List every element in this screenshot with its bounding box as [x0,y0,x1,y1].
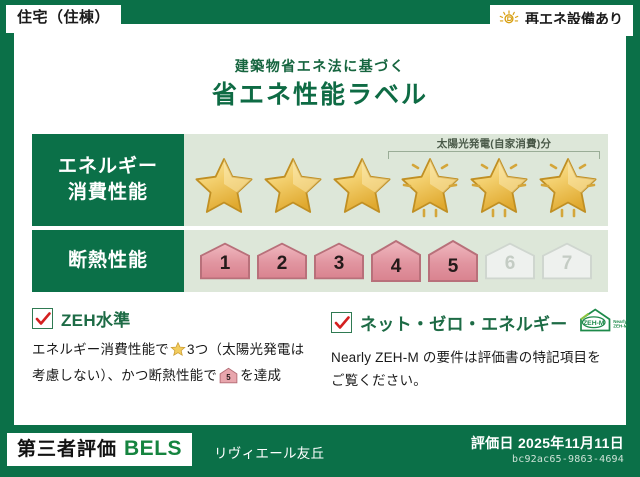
bels-en-label: BELS [124,437,182,460]
insulation-level-number: 6 [505,254,516,281]
insulation-level-1: 1 [198,241,252,281]
inline-star-icon [170,345,186,360]
footer-band: 第三者評価 BELS リヴィエール友丘 評価日 2025年11月11日 bc92… [0,425,640,477]
star-filled [330,155,394,219]
zeh-criteria-header: ZEH水準 [32,306,309,331]
check-icon [334,315,350,331]
zeh-m-logo-icon: ZEH-M Nearly ZEH-M [576,306,632,339]
net-zero-checkbox[interactable] [331,312,352,333]
insulation-performance-body: 1 2 [184,230,608,292]
evaluation-date: 評価日 2025年11月11日 [471,433,624,453]
svg-text:5: 5 [226,373,231,382]
evaluation-id: bc92ac65-9863-4694 [512,454,624,465]
solar-bracket-label: 太陽光発電(自家消費)分 [386,136,602,151]
star-filled [192,155,256,219]
insulation-level-7: 7 [540,241,594,281]
insulation-level-number: 7 [562,254,573,281]
insulation-level-4: 4 [369,238,423,284]
bels-jp-label: 第三者評価 [17,440,117,461]
insulation-performance-label: 断熱性能 [32,230,184,292]
net-zero-criteria-title: ネット・ゼロ・エネルギー [360,310,568,335]
insulation-level-5: 5 [426,238,480,284]
label-sheet: 建築物省エネ法に基づく 省エネ性能ラベル エネルギー 消費性能 太陽光発電(自家… [14,24,626,425]
title-block: 建築物省エネ法に基づく 省エネ性能ラベル [14,58,626,110]
bels-certification-tag: 第三者評価 BELS [7,433,192,466]
insulation-performance-row: 断熱性能 1 [32,230,608,292]
energy-label-line2: 消費性能 [68,180,148,206]
criteria-section: ZEH水準 エネルギー消費性能で3つ（太陽光発電は考慮しない）、かつ断熱性能で5… [32,306,608,410]
insulation-level-number: 3 [334,254,345,281]
insulation-level-scale: 1 2 [184,230,608,292]
insulation-level-number: 1 [220,254,231,281]
insulation-level-6: 6 [483,241,537,281]
energy-performance-label: エネルギー 消費性能 [32,134,184,226]
svg-text:ZEH-M: ZEH-M [613,324,627,329]
check-icon [35,311,51,327]
svg-text:ZEH-M: ZEH-M [583,320,605,327]
zeh-criteria-block: ZEH水準 エネルギー消費性能で3つ（太陽光発電は考慮しない）、かつ断熱性能で5… [32,306,309,410]
inline-house-level-icon: 5 [219,372,238,387]
zeh-text-part1: エネルギー消費性能で [32,342,169,357]
insulation-level-number: 4 [391,257,402,284]
zeh-m-logo-svg: ZEH-M Nearly ZEH-M [578,306,632,334]
net-zero-criteria-description: Nearly ZEH-M の要件は評価書の特記項目をご覧ください。 [331,347,608,393]
insulation-label-text: 断熱性能 [68,248,148,274]
energy-performance-body: 太陽光発電(自家消費)分 [184,134,608,226]
insulation-level-2: 2 [255,241,309,281]
star-solar [536,155,600,219]
star-filled [261,155,325,219]
zeh-criteria-title: ZEH水準 [61,306,131,331]
zeh-text-part3: を達成 [240,368,281,383]
energy-label-line1: エネルギー [58,154,158,180]
title-subtitle: 建築物省エネ法に基づく [14,58,626,75]
insulation-level-3: 3 [312,241,366,281]
star-solar [467,155,531,219]
zeh-checkbox[interactable] [32,308,53,329]
insulation-level-number: 2 [277,254,288,281]
net-zero-criteria-block: ネット・ゼロ・エネルギー ZEH-M Nearly ZEH-M Nearly Z… [331,306,608,410]
building-name: リヴィエール友丘 [214,442,324,462]
star-solar [398,155,462,219]
zeh-criteria-description: エネルギー消費性能で3つ（太陽光発電は考慮しない）、かつ断熱性能で5を達成 [32,339,309,392]
energy-performance-row: エネルギー 消費性能 太陽光発電(自家消費)分 [32,134,608,226]
energy-performance-label-card: 住宅（住棟） 再エネ設備あり 建築物省エネ [0,0,640,477]
star-rating [184,152,608,222]
page-title: 省エネ性能ラベル [14,80,626,110]
net-zero-criteria-header: ネット・ゼロ・エネルギー ZEH-M Nearly ZEH-M [331,306,608,339]
insulation-level-number: 5 [448,257,459,284]
